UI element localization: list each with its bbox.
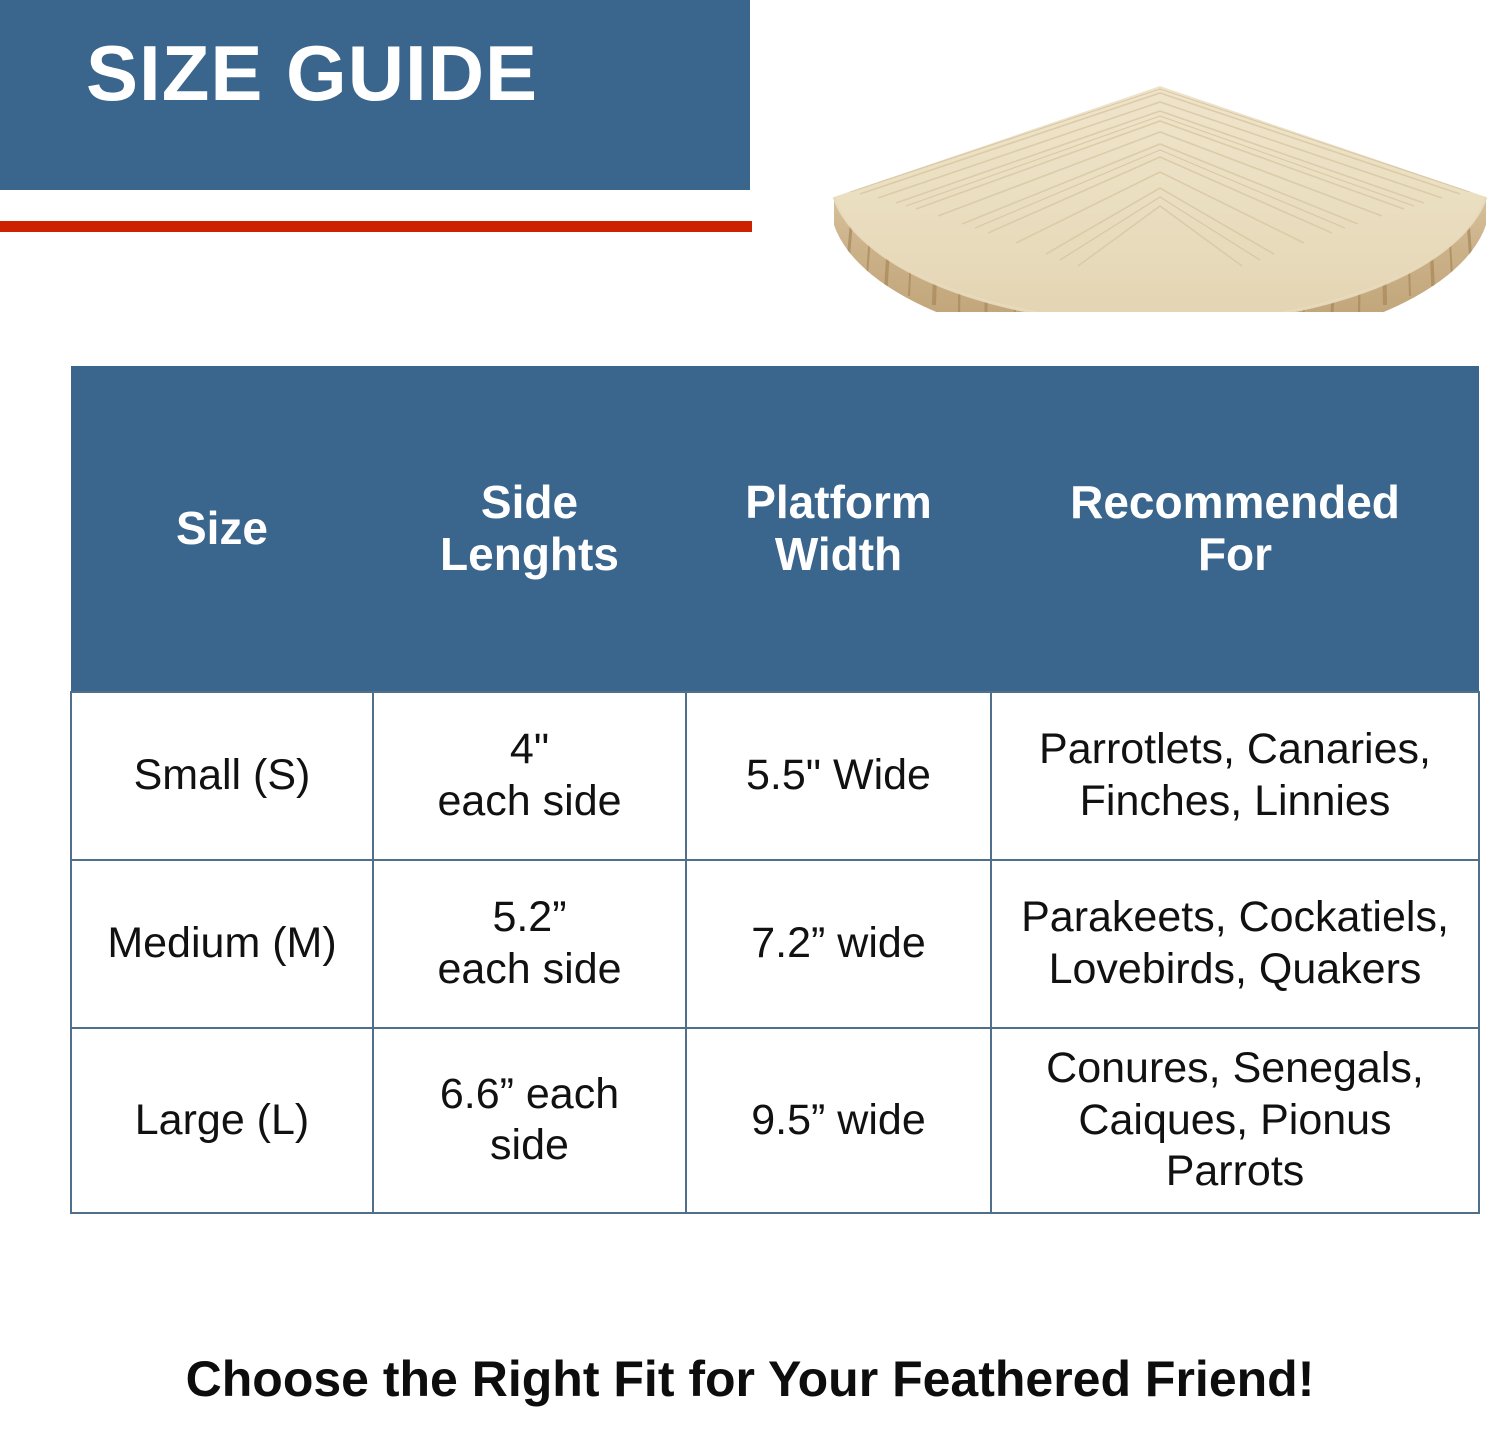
cell-side-length-large-line2: side [386, 1120, 673, 1172]
cell-size-large: Large (L) [71, 1028, 373, 1213]
cell-platform-width-large-value: 9.5” wide [699, 1095, 978, 1147]
table-row: Medium (M) 5.2” each side 7.2” wide Para… [71, 860, 1479, 1028]
column-header-recommended-for-line2: For [1001, 529, 1469, 581]
cell-side-length-small: 4" each side [373, 692, 686, 860]
cell-platform-width-small: 5.5" Wide [686, 692, 991, 860]
cell-size-small-label: Small (S) [84, 750, 360, 802]
cell-recommended-small: Parrotlets, Canaries, Finches, Linnies [991, 692, 1479, 860]
cell-recommended-small-line1: Parrotlets, Canaries, [1004, 724, 1466, 776]
column-header-platform-width-line1: Platform [696, 477, 981, 529]
column-header-platform-width-line2: Width [696, 529, 981, 581]
cell-recommended-large-line2: Caiques, Pionus Parrots [1004, 1095, 1466, 1198]
cell-recommended-large: Conures, Senegals, Caiques, Pionus Parro… [991, 1028, 1479, 1213]
cell-platform-width-medium-value: 7.2” wide [699, 918, 978, 970]
page-title: SIZE GUIDE [86, 34, 538, 112]
header-accent-rule [0, 221, 752, 232]
column-header-side-lengths: Side Lenghts [373, 366, 686, 692]
column-header-side-lengths-line2: Lenghts [383, 529, 676, 581]
cell-recommended-medium-line2: Lovebirds, Quakers [1004, 944, 1466, 996]
cell-recommended-large-line1: Conures, Senegals, [1004, 1043, 1466, 1095]
cell-side-length-large-line1: 6.6” each [386, 1069, 673, 1121]
cell-side-length-small-line1: 4" [386, 724, 673, 776]
corner-shelf-illustration [820, 62, 1500, 312]
column-header-side-lengths-line1: Side [383, 477, 676, 529]
table-header: Size Side Lenghts Platform Width Recomme… [71, 366, 1479, 692]
size-guide-table: Size Side Lenghts Platform Width Recomme… [70, 366, 1480, 1214]
column-header-recommended-for: Recommended For [991, 366, 1479, 692]
cell-side-length-medium: 5.2” each side [373, 860, 686, 1028]
cell-recommended-small-line2: Finches, Linnies [1004, 776, 1466, 828]
corner-shelf-product-image [820, 62, 1500, 312]
column-header-size-label: Size [81, 503, 363, 555]
cell-side-length-medium-line1: 5.2” [386, 892, 673, 944]
cell-platform-width-medium: 7.2” wide [686, 860, 991, 1028]
footer-tagline: Choose the Right Fit for Your Feathered … [0, 1352, 1500, 1407]
cell-recommended-medium-line1: Parakeets, Cockatiels, [1004, 892, 1466, 944]
header-banner: SIZE GUIDE [0, 0, 750, 190]
cell-recommended-medium: Parakeets, Cockatiels, Lovebirds, Quaker… [991, 860, 1479, 1028]
cell-platform-width-large: 9.5” wide [686, 1028, 991, 1213]
cell-side-length-large: 6.6” each side [373, 1028, 686, 1213]
table-header-row: Size Side Lenghts Platform Width Recomme… [71, 366, 1479, 692]
cell-size-large-label: Large (L) [84, 1095, 360, 1147]
column-header-recommended-for-line1: Recommended [1001, 477, 1469, 529]
cell-size-medium-label: Medium (M) [84, 918, 360, 970]
table-row: Small (S) 4" each side 5.5" Wide Parrotl… [71, 692, 1479, 860]
column-header-size: Size [71, 366, 373, 692]
cell-platform-width-small-value: 5.5" Wide [699, 750, 978, 802]
cell-size-small: Small (S) [71, 692, 373, 860]
table-body: Small (S) 4" each side 5.5" Wide Parrotl… [71, 692, 1479, 1213]
cell-size-medium: Medium (M) [71, 860, 373, 1028]
cell-side-length-medium-line2: each side [386, 944, 673, 996]
cell-side-length-small-line2: each side [386, 776, 673, 828]
column-header-platform-width: Platform Width [686, 366, 991, 692]
table-row: Large (L) 6.6” each side 9.5” wide Conur… [71, 1028, 1479, 1213]
